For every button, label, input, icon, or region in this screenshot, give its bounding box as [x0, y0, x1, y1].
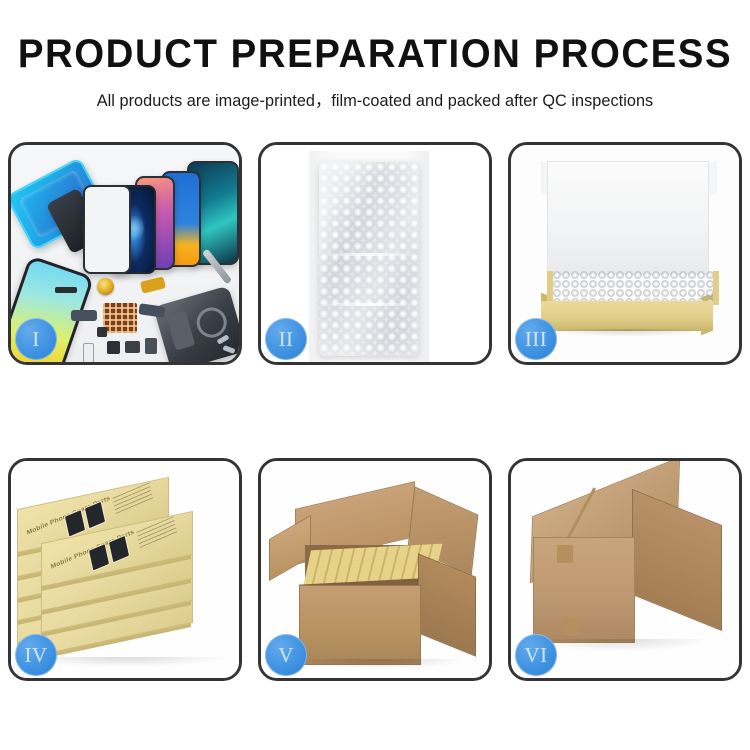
connector-bar-icon: [55, 287, 77, 293]
carton-front-face: [299, 585, 421, 665]
page-subtitle: All products are image-printed，film-coat…: [6, 74, 745, 111]
box-spec-lines: [112, 482, 153, 516]
small-component-icon: [107, 341, 120, 354]
step-panel-5[interactable]: V: [258, 458, 492, 681]
sim-tray-icon: [83, 343, 94, 362]
white-box-lid-icon: [547, 161, 709, 275]
step-panel-3[interactable]: III: [508, 142, 742, 365]
step-panel-4[interactable]: Mobile Phone Spare Parts: [8, 458, 242, 681]
small-component-icon: [125, 341, 140, 353]
small-component-icon: [97, 327, 107, 337]
carton-shadow: [295, 659, 465, 669]
carton-hand-hole: [557, 545, 573, 563]
carton-hand-hole: [563, 617, 579, 635]
step-badge-3: III: [515, 318, 557, 360]
bubble-wrap-inside-box-icon: [547, 271, 719, 305]
step-panel-2[interactable]: II: [258, 142, 492, 365]
carton-shadow: [537, 639, 707, 651]
kraft-box-front: [541, 301, 713, 331]
step-badge-2: II: [265, 318, 307, 360]
header: PRODUCT PREPARATION PROCESS All products…: [0, 0, 750, 111]
front-glass-icon: [83, 185, 131, 274]
small-component-icon: [145, 338, 157, 354]
step-badge-1: I: [15, 318, 57, 360]
step-panel-1[interactable]: I: [8, 142, 242, 365]
product-preparation-process-page: PRODUCT PREPARATION PROCESS All products…: [0, 0, 750, 750]
page-title: PRODUCT PREPARATION PROCESS: [15, 0, 735, 74]
flex-cable-icon: [138, 303, 165, 318]
gold-coil-part-icon: [97, 278, 114, 295]
step-badge-5: V: [265, 634, 307, 676]
process-steps-grid: I II III: [8, 142, 742, 684]
bubble-wrap-sheen: [319, 162, 419, 356]
box-shadow: [545, 329, 709, 337]
chip-array-icon: [103, 303, 137, 333]
flex-cable-icon: [71, 310, 97, 321]
step-panel-6[interactable]: VI: [508, 458, 742, 681]
carton-right-face: [632, 489, 722, 631]
step-badge-6: VI: [515, 634, 557, 676]
gold-flex-cable-icon: [140, 276, 166, 293]
box-spec-lines: [136, 516, 177, 550]
carton-front-face: [533, 537, 635, 643]
step-badge-4: IV: [15, 634, 57, 676]
